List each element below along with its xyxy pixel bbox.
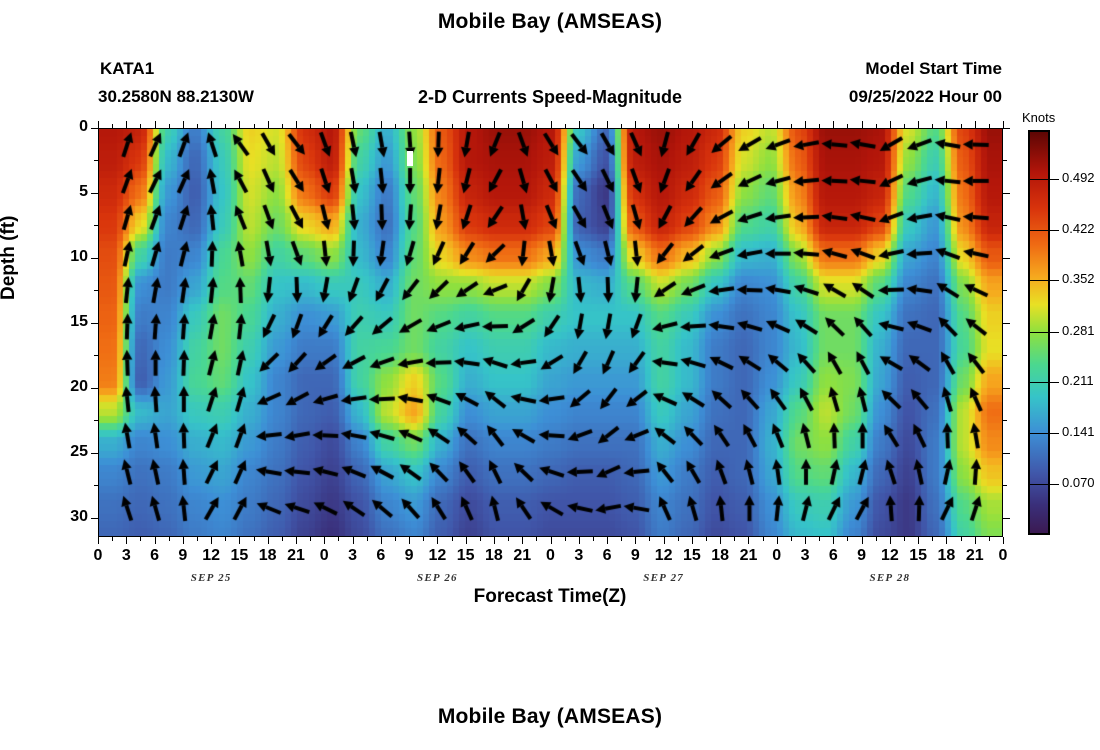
x-tick-bottom <box>466 537 467 544</box>
current-vector-arrows-canvas <box>99 129 1003 537</box>
x-tick-minor-bottom <box>367 537 368 541</box>
colorbar-tick <box>1050 230 1059 231</box>
x-tick-bottom <box>664 537 665 544</box>
y-tick-label: 20 <box>46 378 88 396</box>
x-tick-top <box>607 121 608 128</box>
y-tick-left <box>91 388 98 389</box>
colorbar-tick-label: 0.492 <box>1062 170 1095 185</box>
colorbar-unit-label: Knots <box>1022 110 1055 125</box>
x-axis-day-label: SEP 28 <box>845 572 935 584</box>
x-tick-bottom <box>239 537 240 544</box>
x-tick-minor-bottom <box>904 537 905 541</box>
x-tick-minor-top <box>225 124 226 128</box>
x-tick-top <box>720 121 721 128</box>
x-tick-top <box>126 121 127 128</box>
x-tick-label: 12 <box>196 547 226 565</box>
x-tick-label: 18 <box>705 547 735 565</box>
x-tick-label: 0 <box>83 547 113 565</box>
x-tick-bottom <box>551 537 552 544</box>
x-tick-minor-bottom <box>225 537 226 541</box>
y-tick-right <box>1003 323 1010 324</box>
y-tick-minor-right <box>1003 355 1007 356</box>
x-tick-minor-top <box>282 124 283 128</box>
x-tick-minor-top <box>508 124 509 128</box>
x-tick-label: 18 <box>479 547 509 565</box>
y-tick-label: 15 <box>46 313 88 331</box>
x-tick-bottom <box>126 537 127 544</box>
x-tick-top <box>805 121 806 128</box>
x-tick-bottom <box>918 537 919 544</box>
x-axis-day-label: SEP 25 <box>166 572 256 584</box>
x-tick-label: 9 <box>620 547 650 565</box>
x-tick-minor-bottom <box>876 537 877 541</box>
colorbar-separator <box>1030 280 1048 281</box>
x-tick-minor-top <box>536 124 537 128</box>
colorbar-tick <box>1050 332 1059 333</box>
x-tick-minor-bottom <box>508 537 509 541</box>
colorbar-tick <box>1050 280 1059 281</box>
x-tick-label: 9 <box>168 547 198 565</box>
x-tick-minor-bottom <box>847 537 848 541</box>
x-tick-label: 12 <box>649 547 679 565</box>
x-tick-top <box>183 121 184 128</box>
x-tick-minor-bottom <box>649 537 650 541</box>
x-tick-top <box>268 121 269 128</box>
x-tick-minor-top <box>734 124 735 128</box>
x-tick-bottom <box>833 537 834 544</box>
x-tick-bottom <box>437 537 438 544</box>
x-tick-top <box>579 121 580 128</box>
y-tick-left <box>91 193 98 194</box>
x-tick-minor-top <box>452 124 453 128</box>
y-tick-minor-right <box>1003 160 1007 161</box>
colorbar-separator <box>1030 332 1048 333</box>
x-tick-minor-bottom <box>932 537 933 541</box>
page-title: Mobile Bay (AMSEAS) <box>0 10 1100 34</box>
x-tick-bottom <box>579 537 580 544</box>
x-tick-label: 21 <box>281 547 311 565</box>
y-tick-minor-right <box>1003 485 1007 486</box>
x-tick-top <box>551 121 552 128</box>
colorbar-tick <box>1050 179 1059 180</box>
x-tick-minor-bottom <box>536 537 537 541</box>
x-tick-label: 15 <box>451 547 481 565</box>
x-tick-top <box>494 121 495 128</box>
x-tick-top <box>635 121 636 128</box>
x-tick-minor-top <box>423 124 424 128</box>
y-tick-minor-left <box>94 485 98 486</box>
x-tick-label: 6 <box>818 547 848 565</box>
y-tick-label: 0 <box>46 118 88 136</box>
x-tick-label: 9 <box>847 547 877 565</box>
x-tick-bottom <box>975 537 976 544</box>
x-tick-minor-top <box>763 124 764 128</box>
x-tick-top <box>777 121 778 128</box>
x-tick-label: 9 <box>394 547 424 565</box>
x-tick-minor-top <box>254 124 255 128</box>
x-tick-bottom <box>635 537 636 544</box>
colorbar-separator <box>1030 382 1048 383</box>
y-tick-minor-left <box>94 290 98 291</box>
x-tick-top <box>155 121 156 128</box>
y-tick-left <box>91 258 98 259</box>
y-tick-minor-left <box>94 355 98 356</box>
x-tick-minor-bottom <box>282 537 283 541</box>
station-name-label: KATA1 <box>100 59 154 79</box>
x-tick-label: 21 <box>507 547 537 565</box>
x-tick-top <box>98 121 99 128</box>
y-tick-label: 25 <box>46 443 88 461</box>
colorbar-tick-label: 0.352 <box>1062 271 1095 286</box>
x-tick-bottom <box>211 537 212 544</box>
heatmap-plot-area[interactable] <box>98 128 1003 537</box>
x-tick-minor-top <box>961 124 962 128</box>
x-tick-bottom <box>748 537 749 544</box>
colorbar-tick-label: 0.141 <box>1062 424 1095 439</box>
x-tick-minor-top <box>847 124 848 128</box>
x-tick-top <box>324 121 325 128</box>
colorbar-tick <box>1050 382 1059 383</box>
y-tick-right <box>1003 518 1010 519</box>
x-tick-minor-bottom <box>593 537 594 541</box>
x-tick-minor-bottom <box>169 537 170 541</box>
x-tick-label: 6 <box>592 547 622 565</box>
x-tick-top <box>1003 121 1004 128</box>
x-tick-minor-bottom <box>480 537 481 541</box>
x-tick-label: 21 <box>960 547 990 565</box>
y-tick-minor-right <box>1003 290 1007 291</box>
x-tick-top <box>466 121 467 128</box>
y-tick-minor-left <box>94 420 98 421</box>
model-start-time-label: Model Start Time <box>865 59 1002 79</box>
x-tick-minor-bottom <box>310 537 311 541</box>
x-tick-top <box>890 121 891 128</box>
x-tick-minor-top <box>649 124 650 128</box>
y-tick-right <box>1003 453 1010 454</box>
x-tick-minor-top <box>876 124 877 128</box>
x-tick-minor-top <box>338 124 339 128</box>
x-tick-minor-bottom <box>678 537 679 541</box>
x-axis-title: Forecast Time(Z) <box>0 586 1100 608</box>
x-tick-bottom <box>409 537 410 544</box>
x-tick-minor-top <box>169 124 170 128</box>
x-tick-label: 6 <box>366 547 396 565</box>
y-tick-label: 10 <box>46 248 88 266</box>
colorbar-tick-label: 0.422 <box>1062 221 1095 236</box>
y-tick-minor-left <box>94 225 98 226</box>
x-tick-label: 6 <box>140 547 170 565</box>
colorbar-separator <box>1030 230 1048 231</box>
x-tick-minor-top <box>819 124 820 128</box>
x-tick-minor-bottom <box>621 537 622 541</box>
x-tick-label: 15 <box>224 547 254 565</box>
x-tick-label: 18 <box>931 547 961 565</box>
x-tick-label: 18 <box>253 547 283 565</box>
x-tick-bottom <box>946 537 947 544</box>
x-tick-minor-bottom <box>989 537 990 541</box>
x-tick-bottom <box>805 537 806 544</box>
x-tick-minor-bottom <box>254 537 255 541</box>
x-tick-bottom <box>890 537 891 544</box>
x-tick-top <box>437 121 438 128</box>
x-tick-label: 12 <box>875 547 905 565</box>
x-tick-minor-top <box>310 124 311 128</box>
x-tick-top <box>381 121 382 128</box>
x-tick-minor-bottom <box>395 537 396 541</box>
y-tick-label: 30 <box>46 508 88 526</box>
x-tick-top <box>975 121 976 128</box>
x-tick-top <box>409 121 410 128</box>
y-tick-right <box>1003 128 1010 129</box>
chart-page: Mobile Bay (AMSEAS) KATA1 30.2580N 88.21… <box>0 0 1100 750</box>
y-tick-left <box>91 323 98 324</box>
cursor-marker <box>407 151 413 166</box>
x-tick-top <box>833 121 834 128</box>
x-tick-top <box>692 121 693 128</box>
y-tick-minor-left <box>94 160 98 161</box>
colorbar-separator <box>1030 179 1048 180</box>
x-tick-label: 0 <box>988 547 1018 565</box>
x-tick-minor-top <box>112 124 113 128</box>
x-tick-minor-top <box>593 124 594 128</box>
x-tick-minor-bottom <box>734 537 735 541</box>
x-tick-label: 0 <box>536 547 566 565</box>
x-tick-minor-top <box>565 124 566 128</box>
y-tick-right <box>1003 388 1010 389</box>
x-tick-bottom <box>98 537 99 544</box>
x-tick-minor-top <box>480 124 481 128</box>
y-tick-minor-right <box>1003 420 1007 421</box>
y-tick-left <box>91 128 98 129</box>
colorbar-tick <box>1050 433 1059 434</box>
x-tick-top <box>946 121 947 128</box>
x-tick-top <box>296 121 297 128</box>
y-tick-right <box>1003 258 1010 259</box>
x-tick-minor-bottom <box>140 537 141 541</box>
x-tick-bottom <box>692 537 693 544</box>
x-tick-bottom <box>607 537 608 544</box>
x-tick-minor-bottom <box>112 537 113 541</box>
x-tick-minor-bottom <box>961 537 962 541</box>
x-tick-minor-bottom <box>565 537 566 541</box>
x-tick-minor-top <box>395 124 396 128</box>
x-tick-minor-bottom <box>423 537 424 541</box>
x-axis-day-label: SEP 27 <box>619 572 709 584</box>
x-tick-bottom <box>381 537 382 544</box>
x-tick-minor-bottom <box>452 537 453 541</box>
x-tick-minor-bottom <box>819 537 820 541</box>
y-axis-title: Depth (ft) <box>0 216 20 300</box>
x-tick-bottom <box>494 537 495 544</box>
colorbar-separator <box>1030 484 1048 485</box>
x-tick-minor-bottom <box>706 537 707 541</box>
x-tick-label: 21 <box>733 547 763 565</box>
x-tick-bottom <box>268 537 269 544</box>
x-tick-bottom <box>183 537 184 544</box>
x-tick-label: 3 <box>564 547 594 565</box>
x-axis-day-label: SEP 26 <box>392 572 482 584</box>
model-start-time-value: 09/25/2022 Hour 00 <box>849 87 1002 107</box>
y-tick-minor-right <box>1003 225 1007 226</box>
x-tick-minor-top <box>706 124 707 128</box>
colorbar-tick-label: 0.281 <box>1062 323 1095 338</box>
x-tick-bottom <box>522 537 523 544</box>
x-tick-minor-bottom <box>197 537 198 541</box>
x-tick-label: 0 <box>762 547 792 565</box>
y-tick-right <box>1003 193 1010 194</box>
colorbar-separator <box>1030 433 1048 434</box>
x-tick-minor-top <box>791 124 792 128</box>
colorbar-tick-label: 0.070 <box>1062 475 1095 490</box>
x-tick-bottom <box>296 537 297 544</box>
x-tick-minor-top <box>904 124 905 128</box>
y-tick-label: 5 <box>46 183 88 201</box>
x-tick-minor-top <box>989 124 990 128</box>
x-tick-label: 3 <box>338 547 368 565</box>
x-tick-minor-top <box>197 124 198 128</box>
x-tick-top <box>664 121 665 128</box>
x-tick-label: 3 <box>111 547 141 565</box>
x-tick-minor-bottom <box>763 537 764 541</box>
x-tick-minor-top <box>621 124 622 128</box>
x-tick-label: 15 <box>903 547 933 565</box>
x-tick-bottom <box>155 537 156 544</box>
x-tick-label: 3 <box>790 547 820 565</box>
x-tick-minor-bottom <box>791 537 792 541</box>
x-tick-label: 0 <box>309 547 339 565</box>
y-tick-left <box>91 453 98 454</box>
x-tick-bottom <box>862 537 863 544</box>
x-tick-bottom <box>324 537 325 544</box>
x-tick-bottom <box>1003 537 1004 544</box>
x-tick-bottom <box>720 537 721 544</box>
x-tick-top <box>353 121 354 128</box>
colorbar-tick <box>1050 484 1059 485</box>
x-tick-minor-top <box>367 124 368 128</box>
footer-title: Mobile Bay (AMSEAS) <box>0 705 1100 729</box>
x-tick-minor-bottom <box>338 537 339 541</box>
y-tick-left <box>91 518 98 519</box>
x-tick-bottom <box>353 537 354 544</box>
x-tick-label: 15 <box>677 547 707 565</box>
x-tick-top <box>862 121 863 128</box>
colorbar-tick-label: 0.211 <box>1062 373 1094 388</box>
x-tick-top <box>918 121 919 128</box>
x-tick-top <box>748 121 749 128</box>
x-tick-minor-top <box>140 124 141 128</box>
x-tick-top <box>522 121 523 128</box>
x-tick-minor-top <box>932 124 933 128</box>
colorbar[interactable] <box>1028 130 1050 535</box>
x-tick-label: 12 <box>422 547 452 565</box>
x-tick-minor-top <box>678 124 679 128</box>
x-tick-top <box>211 121 212 128</box>
x-tick-bottom <box>777 537 778 544</box>
x-tick-top <box>239 121 240 128</box>
